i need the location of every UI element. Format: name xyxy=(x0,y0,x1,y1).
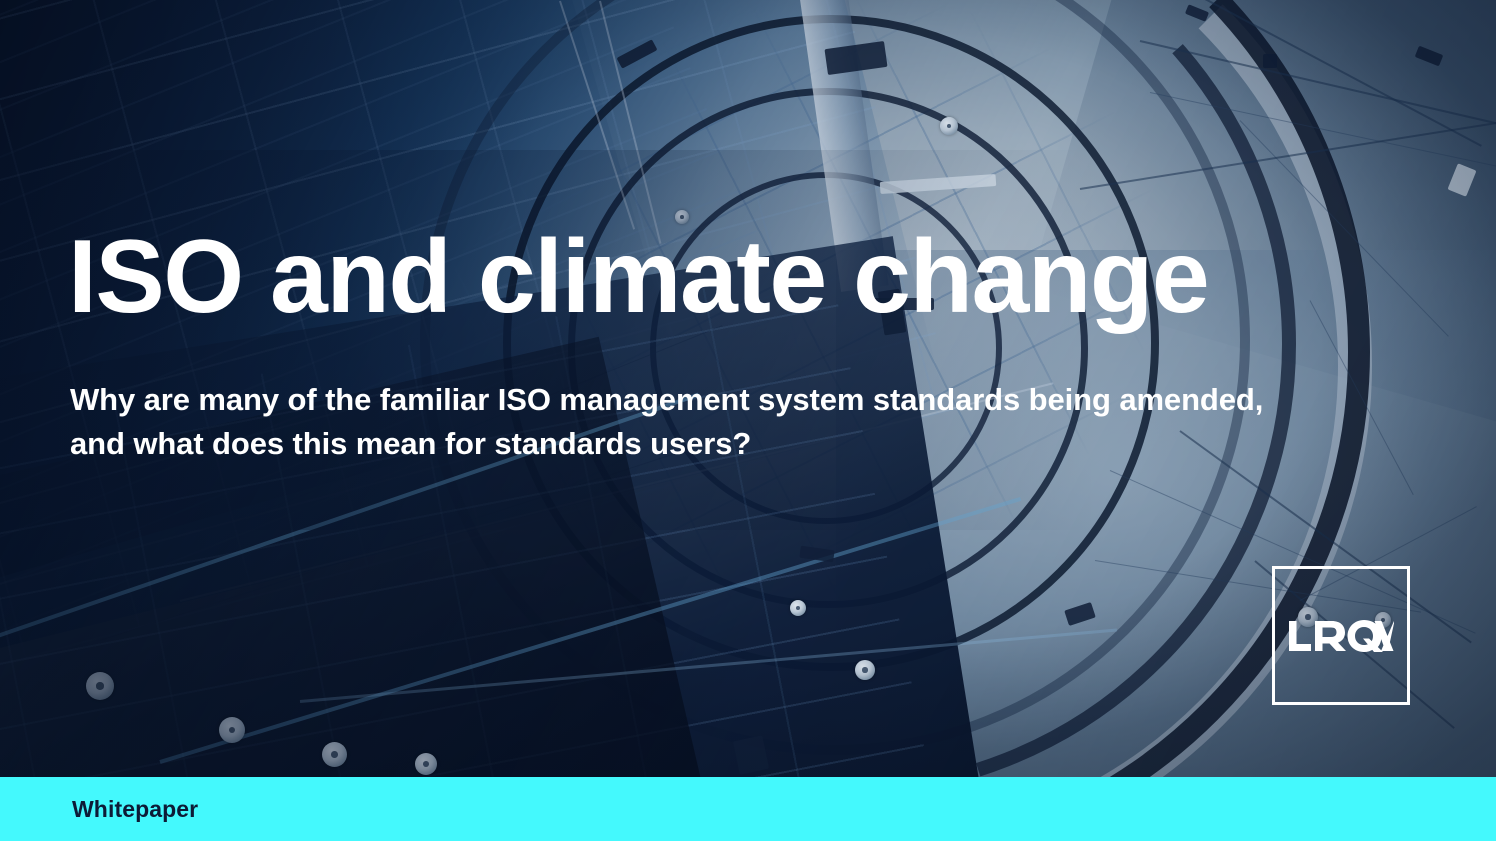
footer-bar: Whitepaper xyxy=(0,777,1496,841)
lrqa-logo xyxy=(1272,566,1410,705)
document-type-label: Whitepaper xyxy=(72,796,198,823)
page-title: ISO and climate change xyxy=(68,225,1208,329)
page-subtitle: Why are many of the familiar ISO managem… xyxy=(70,378,1300,466)
lrqa-wordmark-icon xyxy=(1288,619,1394,653)
photo-text-scrim xyxy=(0,150,1100,530)
whitepaper-cover: ISO and climate change Why are many of t… xyxy=(0,0,1496,841)
